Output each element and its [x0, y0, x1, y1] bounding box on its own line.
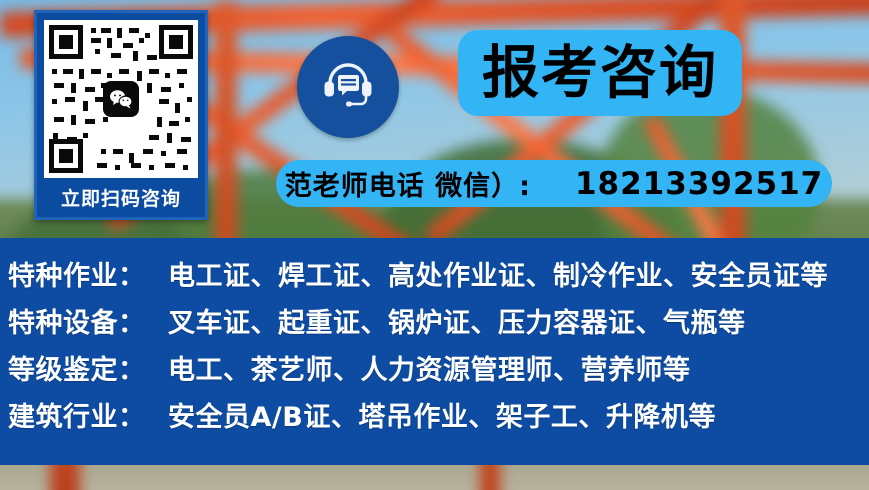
- qr-module: [107, 73, 112, 78]
- contact-bar[interactable]: 范老师电话 微信）: 18213392517: [276, 160, 832, 207]
- list-item: 特种作业： 电工证、焊工证、高处作业证、制冷作业、安全员证等: [8, 254, 869, 301]
- qr-module: [149, 135, 159, 140]
- list-item: 建筑行业： 安全员A/B证、塔吊作业、架子工、升降机等: [8, 395, 869, 442]
- qr-module: [91, 28, 96, 33]
- qr-module: [123, 43, 133, 48]
- contact-label: 范老师电话 微信）:: [285, 164, 531, 203]
- qr-module: [149, 165, 154, 170]
- qr-module: [95, 49, 100, 54]
- qr-module: [85, 87, 95, 92]
- qr-module: [147, 83, 152, 93]
- qr-module: [147, 55, 157, 60]
- title-badge: 报考咨询: [458, 30, 742, 116]
- qr-module: [107, 38, 112, 48]
- headset-badge[interactable]: [297, 36, 399, 138]
- phone-number[interactable]: 18213392517: [575, 166, 823, 202]
- list-item: 特种设备： 叉车证、起重证、锅炉证、压力容器证、气瓶等: [8, 301, 869, 348]
- category-items: 叉车证、起重证、锅炉证、压力容器证、气瓶等: [168, 301, 746, 340]
- qr-module: [149, 69, 159, 74]
- qr-module: [165, 163, 175, 168]
- qr-module: [157, 117, 162, 127]
- qr-module: [187, 97, 192, 102]
- wechat-icon: [103, 81, 139, 117]
- qr-module: [83, 133, 88, 138]
- qr-module: [91, 69, 101, 74]
- qr-module: [133, 51, 138, 61]
- qr-caption: 立即扫码咨询: [44, 178, 198, 220]
- qr-module: [181, 137, 191, 142]
- category-items: 电工证、焊工证、高处作业证、制冷作业、安全员证等: [168, 254, 828, 293]
- headset-chat-icon: [319, 56, 377, 118]
- qr-code-image[interactable]: [44, 20, 198, 178]
- qr-module: [71, 115, 76, 125]
- qr-module: [52, 99, 57, 104]
- qr-module: [169, 121, 179, 126]
- category-label: 特种作业：: [8, 254, 168, 293]
- qr-module: [117, 28, 122, 38]
- qr-finder-top-left: [49, 25, 83, 59]
- qr-module: [53, 133, 58, 143]
- list-item: 等级鉴定： 电工、茶艺师、人力资源管理师、营养师等: [8, 348, 869, 395]
- qr-module: [113, 149, 123, 154]
- qr-card[interactable]: 立即扫码咨询: [34, 10, 208, 220]
- qr-finder-top-right: [159, 25, 193, 59]
- qr-module: [91, 38, 101, 43]
- qr-module: [177, 69, 187, 74]
- qr-module: [179, 83, 184, 88]
- certification-list-panel: 特种作业： 电工证、焊工证、高处作业证、制冷作业、安全员证等 特种设备： 叉车证…: [0, 238, 869, 465]
- qr-module: [139, 38, 144, 43]
- title-text: 报考咨询: [482, 45, 718, 102]
- qr-module: [71, 83, 76, 93]
- qr-module: [129, 153, 134, 163]
- category-label: 等级鉴定：: [8, 348, 168, 387]
- qr-module: [183, 165, 188, 170]
- qr-module: [63, 69, 73, 74]
- qr-module: [137, 71, 142, 81]
- category-items: 电工、茶艺师、人力资源管理师、营养师等: [168, 348, 691, 387]
- qr-module: [175, 103, 180, 113]
- qr-module: [177, 149, 187, 154]
- qr-module: [111, 53, 121, 58]
- qr-module: [131, 163, 141, 168]
- qr-module: [161, 151, 166, 156]
- qr-module: [65, 97, 75, 102]
- qr-module: [143, 149, 153, 154]
- qr-module: [101, 149, 106, 154]
- qr-finder-bottom-left: [49, 139, 83, 173]
- qr-module: [161, 87, 171, 92]
- qr-module: [119, 69, 129, 74]
- qr-module: [52, 69, 57, 74]
- qr-module: [159, 99, 169, 104]
- qr-module: [54, 83, 64, 88]
- qr-module: [129, 28, 139, 33]
- qr-module: [79, 69, 84, 79]
- category-label: 特种设备：: [8, 301, 168, 340]
- qr-module: [167, 133, 172, 143]
- qr-module: [145, 33, 150, 38]
- qr-module: [185, 117, 190, 122]
- qr-module: [85, 119, 95, 124]
- qr-module: [115, 165, 120, 170]
- qr-module: [165, 73, 170, 78]
- category-items: 安全员A/B证、塔吊作业、架子工、升降机等: [168, 395, 716, 434]
- promo-poster: 立即扫码咨询 报考咨询 范老师电话 微信）: 18213392517: [0, 0, 869, 490]
- qr-module: [54, 117, 64, 122]
- qr-module: [67, 137, 77, 142]
- qr-module: [83, 101, 88, 111]
- qr-matrix: [49, 25, 193, 173]
- qr-module: [103, 117, 108, 122]
- qr-module: [97, 163, 107, 168]
- category-label: 建筑行业：: [8, 395, 168, 434]
- qr-module: [101, 28, 111, 33]
